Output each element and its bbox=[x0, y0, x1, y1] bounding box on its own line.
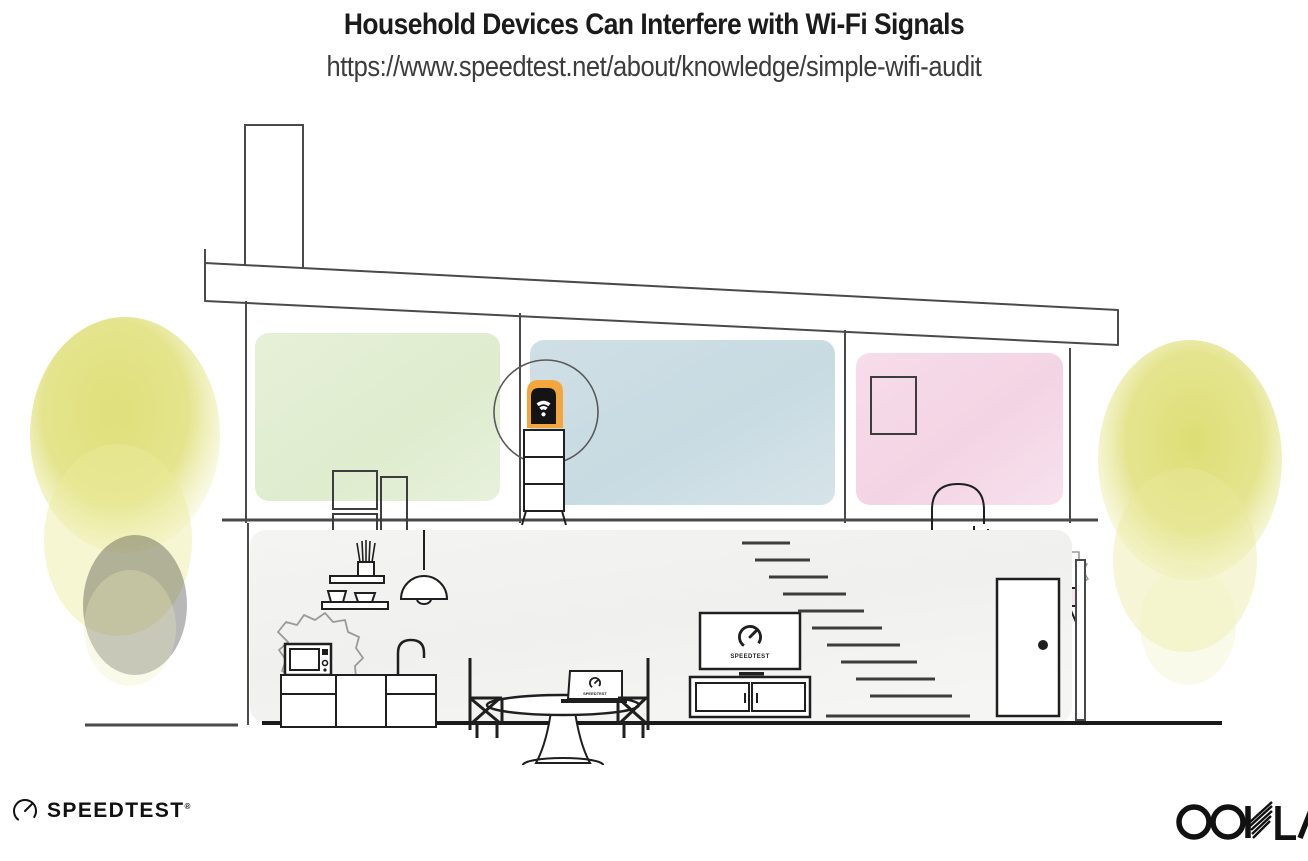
speedtest-wordmark: SPEEDTEST® bbox=[47, 799, 190, 823]
poster-page: Household Devices Can Interfere with Wi-… bbox=[0, 0, 1308, 861]
poster-header: Household Devices Can Interfere with Wi-… bbox=[0, 0, 1308, 84]
wifi-router[interactable] bbox=[527, 380, 563, 428]
tv-console bbox=[690, 677, 810, 717]
speedtest-wordmark-text: SPEEDTEST bbox=[47, 799, 184, 822]
slanted-roof bbox=[205, 249, 1118, 345]
source-url: https://www.speedtest.net/about/knowledg… bbox=[78, 42, 1229, 84]
dining-table bbox=[487, 695, 639, 765]
ookla-wordmark-icon bbox=[1172, 800, 1308, 840]
foliage-right bbox=[1098, 340, 1282, 685]
speedtest-trademark: ® bbox=[184, 802, 190, 811]
page-title: Household Devices Can Interfere with Wi-… bbox=[78, 0, 1229, 42]
house-illustration: SPEEDTEST bbox=[0, 105, 1308, 765]
ookla-logo[interactable] bbox=[1172, 800, 1308, 848]
foliage-left bbox=[30, 317, 220, 686]
tv-screen-label: SPEEDTEST bbox=[730, 654, 769, 660]
shelf-unit bbox=[522, 430, 566, 525]
poster-footer: SPEEDTEST® bbox=[0, 780, 1308, 861]
television[interactable]: SPEEDTEST bbox=[700, 613, 800, 676]
side-post bbox=[1076, 560, 1085, 720]
door-knob-icon[interactable] bbox=[1038, 640, 1048, 650]
laptop-screen-label: SPEEDTEST bbox=[583, 691, 607, 696]
front-door[interactable] bbox=[997, 579, 1059, 716]
speedtest-logo[interactable]: SPEEDTEST® bbox=[12, 798, 190, 824]
room-ground-floor: SPEEDTEST bbox=[85, 523, 1222, 765]
speedometer-icon bbox=[12, 798, 38, 824]
chimney bbox=[245, 125, 303, 273]
